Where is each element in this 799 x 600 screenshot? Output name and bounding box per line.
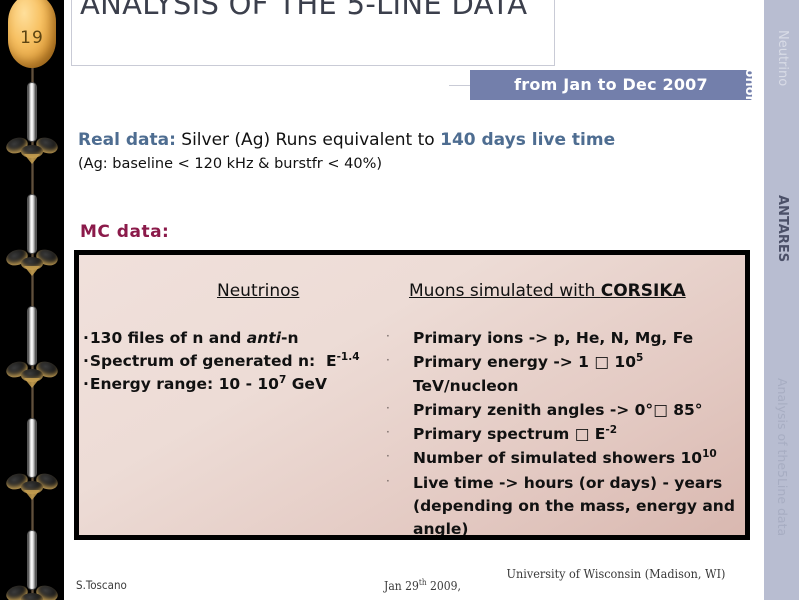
date-banner: from Jan to Dec 2007	[470, 70, 752, 100]
muons-column-heading: Muons simulated with CORSIKA	[409, 281, 686, 301]
real-data-highlight: 140 days live time	[440, 130, 615, 150]
real-data-label: Real data:	[78, 130, 176, 150]
storey-tube	[27, 306, 37, 366]
storey-cone	[24, 154, 40, 164]
bullet-dot-icon: ·	[83, 329, 89, 347]
footer-author: S.Toscano	[76, 578, 127, 592]
list-item: ·Energy range: 10 - 107 GeV	[83, 373, 383, 396]
bullet-dot-icon: ·	[83, 352, 89, 370]
detector-storey	[6, 306, 58, 402]
banner-connector-rule	[449, 85, 471, 86]
bullet-dot-icon: ·	[83, 375, 89, 393]
right-sidebar: Neutrino ANTARES Analysis of the5Line da…	[764, 0, 799, 600]
bullet-dot-icon: ·	[386, 351, 390, 369]
storey-tube	[27, 530, 37, 590]
list-item: ·Primary energy -> 1 □ 105TeV/nucleon	[383, 351, 743, 398]
bullet-dot-icon: ·	[386, 472, 390, 490]
storey-cone	[24, 378, 40, 388]
storey-cone	[24, 490, 40, 500]
storey-cone	[24, 266, 40, 276]
footer-date: Jan 29th 2009,	[384, 579, 461, 593]
detector-line-graphic: 19	[0, 0, 64, 600]
list-item: ·Spectrum of generated n: E-1.4	[83, 350, 383, 373]
list-item: ·Primary spectrum □ E-2	[383, 423, 743, 446]
list-item: ·Live time -> hours (or days) - years(de…	[383, 472, 743, 541]
real-data-line: Real data: Silver (Ag) Runs equivalent t…	[78, 130, 728, 150]
bullet-dot-icon: ·	[386, 447, 390, 465]
bullet-dot-icon: ·	[386, 423, 390, 441]
footer-university: University of Wisconsin (Madison, WI)	[490, 566, 742, 583]
muons-bullet-list: ·Primary ions -> p, He, N, Mg, Fe ·Prima…	[383, 327, 743, 540]
list-item: ·Primary ions -> p, He, N, Mg, Fe	[383, 327, 743, 350]
neutrinos-bullet-list: ·130 files of n and anti-n ·Spectrum of …	[83, 327, 383, 396]
detector-storey	[6, 82, 58, 178]
list-item: ·Number of simulated showers 1010	[383, 447, 743, 470]
sidebar-label-neutrino: Neutrino	[775, 30, 790, 86]
sidebar-label-analysis: Analysis of the5Line data	[775, 378, 790, 536]
corsika-label: CORSIKA	[601, 281, 686, 301]
mc-data-box: Neutrinos Muons simulated with CORSIKA ·…	[74, 250, 750, 540]
slide-number: 19	[0, 28, 64, 48]
storey-tube	[27, 194, 37, 254]
detector-storey	[6, 530, 58, 600]
sidebar-label-astronomy: Astronomy	[742, 38, 757, 118]
optical-module-icon	[21, 593, 43, 600]
page-title: ANALYSIS OF THE 5-LINE DATA	[80, 0, 550, 23]
storey-tube	[27, 418, 37, 478]
list-item: ·130 files of n and anti-n	[83, 327, 383, 350]
real-data-middle: Silver (Ag) Runs equivalent to	[176, 130, 440, 150]
right-sidebar-labels: Neutrino ANTARES Analysis of the5Line da…	[764, 0, 799, 600]
muons-heading-plain: Muons simulated with	[409, 281, 601, 301]
slide: 19	[0, 0, 799, 600]
detector-storey	[6, 194, 58, 290]
list-item: ·Primary zenith angles -> 0°□ 85°	[383, 399, 743, 422]
real-data-subline: (Ag: baseline < 120 kHz & burstfr < 40%)	[78, 156, 382, 172]
bullet-dot-icon: ·	[386, 327, 390, 345]
bullet-dot-icon: ·	[386, 399, 390, 417]
storey-tube	[27, 82, 37, 142]
date-banner-label: from Jan to Dec 2007	[470, 75, 752, 94]
neutrinos-column-heading: Neutrinos	[217, 281, 299, 301]
sidebar-label-antares: ANTARES	[775, 195, 790, 262]
detector-storey	[6, 418, 58, 514]
mc-data-label: MC data:	[80, 222, 169, 242]
